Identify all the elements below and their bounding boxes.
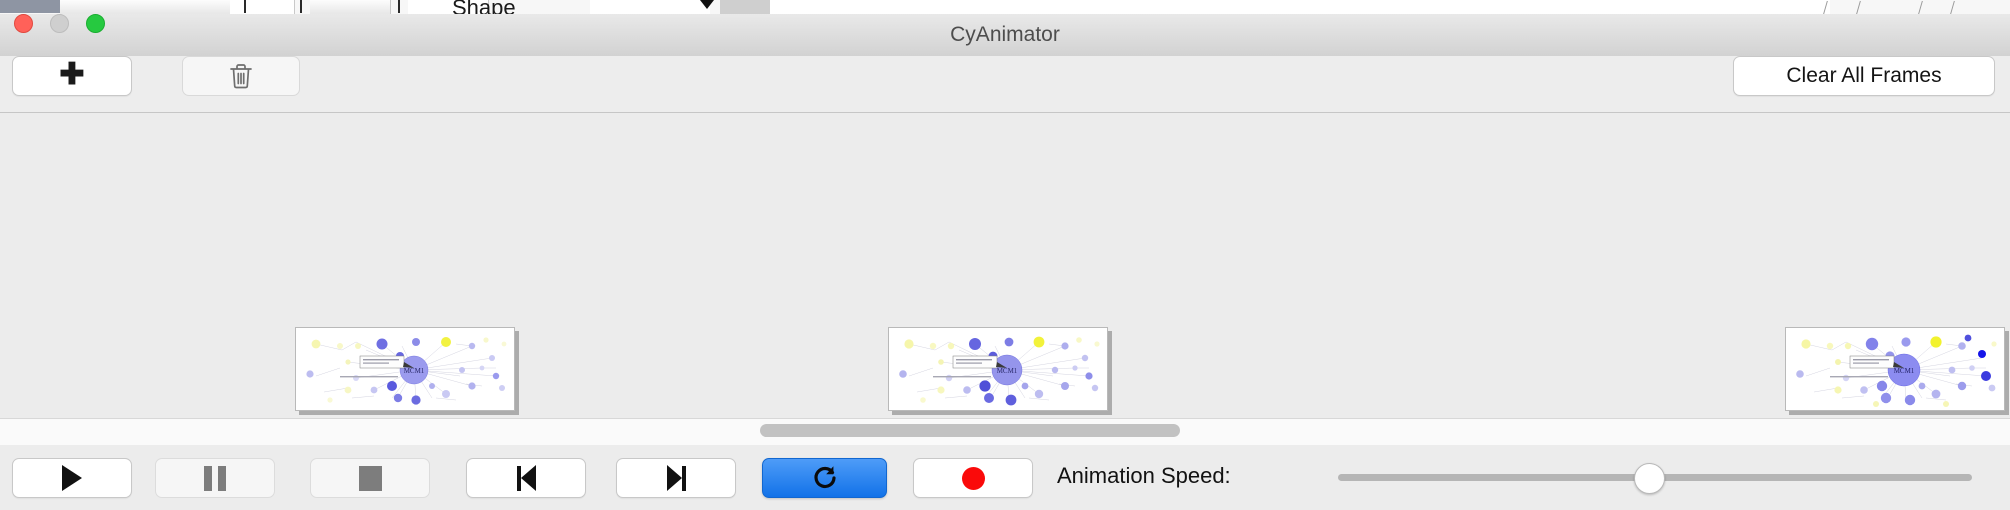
record-icon: [962, 467, 985, 490]
background-segment: [770, 0, 1830, 14]
timeline-scrollbar-thumb[interactable]: [760, 424, 1180, 437]
svg-text:MCM1: MCM1: [404, 367, 425, 375]
background-shape-label: Shape: [452, 0, 516, 15]
background-tick: [300, 0, 302, 13]
network-thumbnail-image: MCM1: [296, 328, 514, 410]
loop-button[interactable]: [762, 458, 887, 498]
pause-icon: [204, 466, 226, 491]
skip-forward-button[interactable]: [616, 458, 736, 498]
skip-back-button[interactable]: [466, 458, 586, 498]
loop-icon: [810, 463, 840, 493]
background-segment: [182, 0, 231, 14]
background-window-dark-segment: [0, 0, 60, 13]
cyanimator-window: Shape CyAnimator ✚ Clear All Frames: [0, 0, 2010, 510]
timeline-panel[interactable]: MCM1: [0, 113, 2010, 418]
delete-frame-button[interactable]: [182, 56, 300, 96]
page-title: CyAnimator: [0, 14, 2010, 56]
record-button[interactable]: [913, 458, 1033, 498]
network-thumbnail-image: MCM1: [1786, 328, 2004, 410]
skip-back-icon: [517, 465, 536, 491]
pause-button[interactable]: [155, 458, 275, 498]
stop-icon: [359, 466, 382, 491]
background-segment: [132, 0, 183, 14]
background-segment: [60, 0, 133, 14]
background-segment: [720, 0, 771, 14]
play-icon: [62, 465, 82, 491]
background-tick: [244, 0, 246, 13]
animation-speed-label: Animation Speed:: [1057, 463, 1231, 489]
background-segment: [230, 0, 295, 14]
background-segment: [310, 0, 391, 14]
background-divider: [1856, 1, 1861, 14]
background-divider: [1950, 1, 1955, 14]
clear-all-frames-button[interactable]: Clear All Frames: [1733, 56, 1995, 96]
svg-text:MCM1: MCM1: [997, 367, 1018, 375]
background-segment: [590, 0, 710, 14]
toolbar: [0, 56, 2010, 113]
stop-button[interactable]: [310, 458, 430, 498]
svg-text:MCM1: MCM1: [1894, 367, 1915, 375]
trash-icon: [228, 62, 254, 90]
timeline-frame-thumbnail[interactable]: MCM1: [888, 327, 1108, 411]
timeline-frame-thumbnail[interactable]: MCM1: [1785, 327, 2005, 411]
network-thumbnail-image: MCM1: [889, 328, 1107, 410]
background-caret-icon: [700, 0, 714, 9]
add-frame-button[interactable]: ✚: [12, 56, 132, 96]
background-divider: [1918, 1, 1923, 14]
background-tick: [398, 0, 400, 13]
timeline-frame-thumbnail[interactable]: MCM1: [295, 327, 515, 411]
plus-icon: ✚: [59, 60, 84, 90]
animation-speed-slider-thumb[interactable]: [1634, 463, 1665, 494]
background-window-strip: Shape: [0, 0, 2010, 15]
skip-forward-icon: [667, 465, 686, 491]
play-button[interactable]: [12, 458, 132, 498]
